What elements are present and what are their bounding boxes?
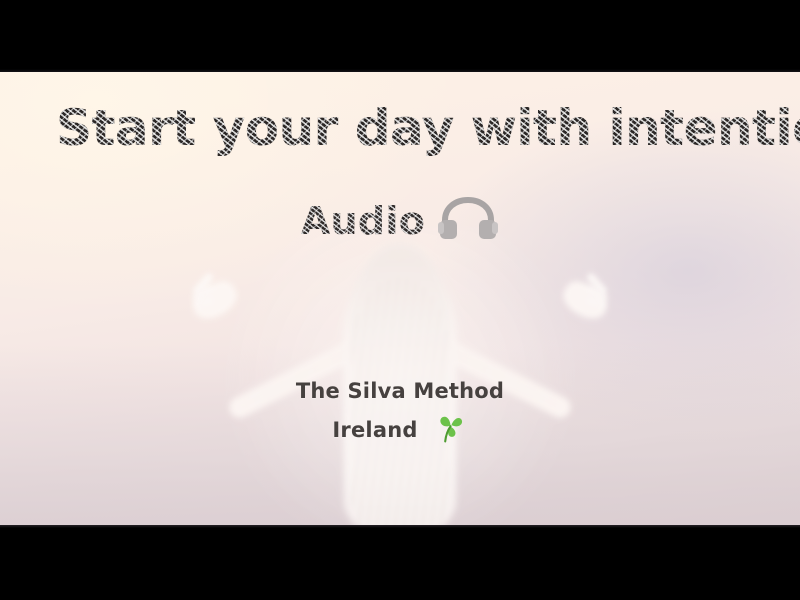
video-player[interactable]: Start your day with intentionS Audio The… [0,0,800,600]
headphones-icon [437,196,499,247]
headline-text: Start your day with intention [56,86,800,170]
watermark-line-1: The Silva Method [0,372,800,410]
letterbox-bar-top [0,0,800,72]
watermark-line-2-row: Ireland [0,410,800,456]
watermark: The Silva Method Ireland [0,372,800,456]
headline-track: Start your day with intentionS [56,86,800,170]
audio-label: Audio [301,199,425,243]
shamrock-icon [434,410,468,456]
video-frame[interactable]: Start your day with intentionS Audio The… [0,72,800,525]
headline-marquee: Start your day with intentionS [0,86,800,170]
audio-line: Audio [0,194,800,247]
letterbox-bar-bottom [0,525,800,600]
watermark-line-2: Ireland [332,418,417,442]
